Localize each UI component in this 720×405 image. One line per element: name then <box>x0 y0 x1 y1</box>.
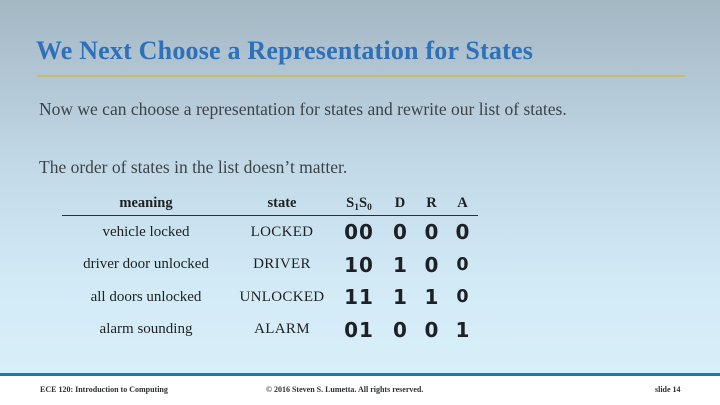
cell-state-bits: 01 <box>334 314 384 347</box>
state-representation-table: meaning state S1S0 D R A vehicle locked … <box>62 193 478 346</box>
cell-state-bits: 10 <box>334 249 384 282</box>
title-divider <box>37 75 685 77</box>
cell-a: 0 <box>447 281 478 314</box>
cell-a: 0 <box>447 216 478 249</box>
cell-r: 0 <box>416 314 447 347</box>
cell-r: 0 <box>416 249 447 282</box>
footer-copyright: © 2016 Steven S. Lumetta. All rights res… <box>266 385 423 394</box>
table-header-row: meaning state S1S0 D R A <box>62 193 478 216</box>
header-s0-letter: S <box>359 195 367 211</box>
cell-r: 0 <box>416 216 447 249</box>
cell-d: 0 <box>384 314 416 347</box>
cell-meaning: driver door unlocked <box>62 249 230 282</box>
cell-state: DRIVER <box>230 249 334 282</box>
cell-d: 0 <box>384 216 416 249</box>
cell-state: LOCKED <box>230 216 334 249</box>
cell-d: 1 <box>384 249 416 282</box>
header-s0-subscript: 0 <box>367 203 372 213</box>
cell-meaning: alarm sounding <box>62 314 230 347</box>
cell-state: UNLOCKED <box>230 281 334 314</box>
table-row: all doors unlocked UNLOCKED 11 1 1 0 <box>62 281 478 314</box>
slide-footer: ECE 120: Introduction to Computing © 201… <box>0 376 720 405</box>
table-row: vehicle locked LOCKED 00 0 0 0 <box>62 216 478 249</box>
cell-meaning: vehicle locked <box>62 216 230 249</box>
column-header-meaning: meaning <box>62 193 230 216</box>
column-header-d: D <box>384 193 416 216</box>
page-title: We Next Choose a Representation for Stat… <box>36 36 686 66</box>
table-row: alarm sounding ALARM 01 0 0 1 <box>62 314 478 347</box>
footer-slide-number: slide 14 <box>655 385 681 394</box>
cell-state: ALARM <box>230 314 334 347</box>
cell-meaning: all doors unlocked <box>62 281 230 314</box>
body-paragraph-2: The order of states in the list doesn’t … <box>39 157 659 177</box>
cell-d: 1 <box>384 281 416 314</box>
cell-r: 1 <box>416 281 447 314</box>
cell-a: 1 <box>447 314 478 347</box>
table-row: driver door unlocked DRIVER 10 1 0 0 <box>62 249 478 282</box>
footer-course-label: ECE 120: Introduction to Computing <box>40 385 168 394</box>
slide: We Next Choose a Representation for Stat… <box>0 0 720 405</box>
column-header-a: A <box>447 193 478 216</box>
slide-content-area: We Next Choose a Representation for Stat… <box>0 0 720 373</box>
cell-a: 0 <box>447 249 478 282</box>
body-paragraph-1: Now we can choose a representation for s… <box>39 99 659 119</box>
cell-state-bits: 11 <box>334 281 384 314</box>
column-header-state-bits: S1S0 <box>334 193 384 216</box>
column-header-r: R <box>416 193 447 216</box>
header-s1-subscript: 1 <box>354 203 359 213</box>
column-header-state: state <box>230 193 334 216</box>
cell-state-bits: 00 <box>334 216 384 249</box>
